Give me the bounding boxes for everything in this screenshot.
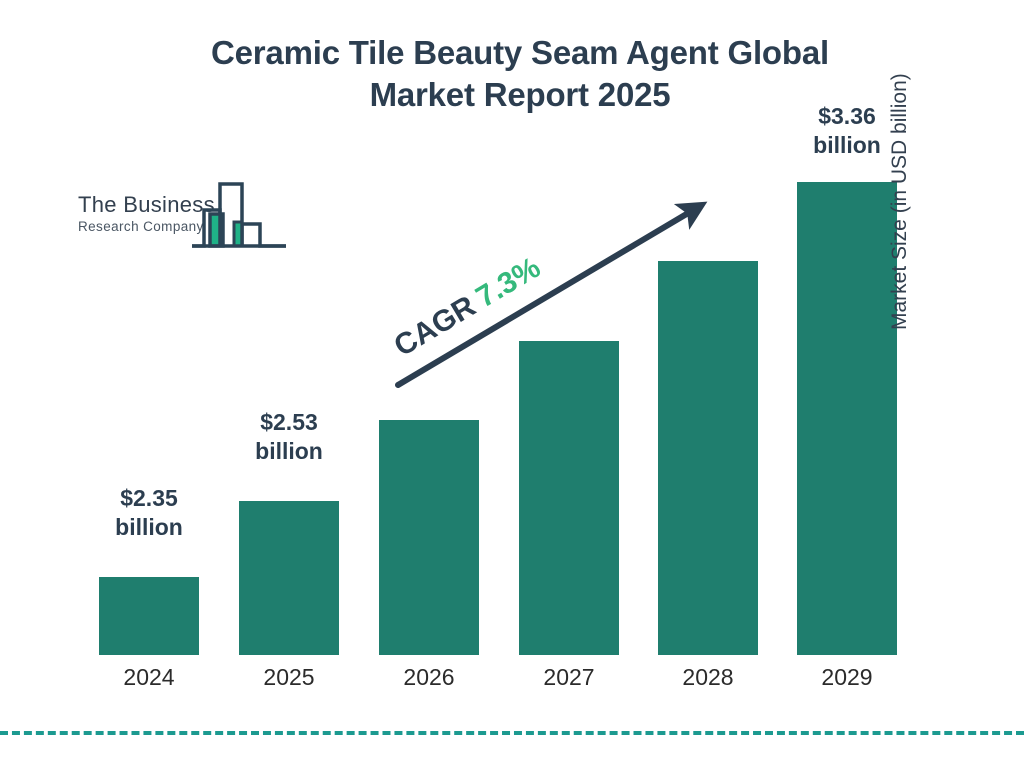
- x-tick-2025: 2025: [239, 664, 339, 691]
- bar-2029[interactable]: [797, 182, 897, 655]
- cagr-value: 7.3%: [470, 251, 546, 314]
- y-axis-title: Market Size (in USD billion): [888, 0, 912, 330]
- cagr-label: CAGR: [389, 290, 482, 364]
- chart-canvas: Ceramic Tile Beauty Seam Agent Global Ma…: [0, 0, 1024, 768]
- bar-value-label: $2.53 billion: [209, 408, 369, 467]
- bar-value-label: $2.35 billion: [69, 484, 229, 543]
- x-tick-2026: 2026: [379, 664, 479, 691]
- bar-2028[interactable]: [658, 261, 758, 655]
- x-tick-2024: 2024: [99, 664, 199, 691]
- x-tick-2029: 2029: [797, 664, 897, 691]
- footer-divider: [0, 731, 1024, 735]
- bar-2027[interactable]: [519, 341, 619, 655]
- bar-chart-plot: $2.35 billion $2.53 billion $3.36 billio…: [0, 0, 1024, 768]
- x-tick-2027: 2027: [519, 664, 619, 691]
- bar-2025[interactable]: [239, 501, 339, 655]
- x-tick-2028: 2028: [658, 664, 758, 691]
- bar-2026[interactable]: [379, 420, 479, 655]
- bar-2024[interactable]: [99, 577, 199, 655]
